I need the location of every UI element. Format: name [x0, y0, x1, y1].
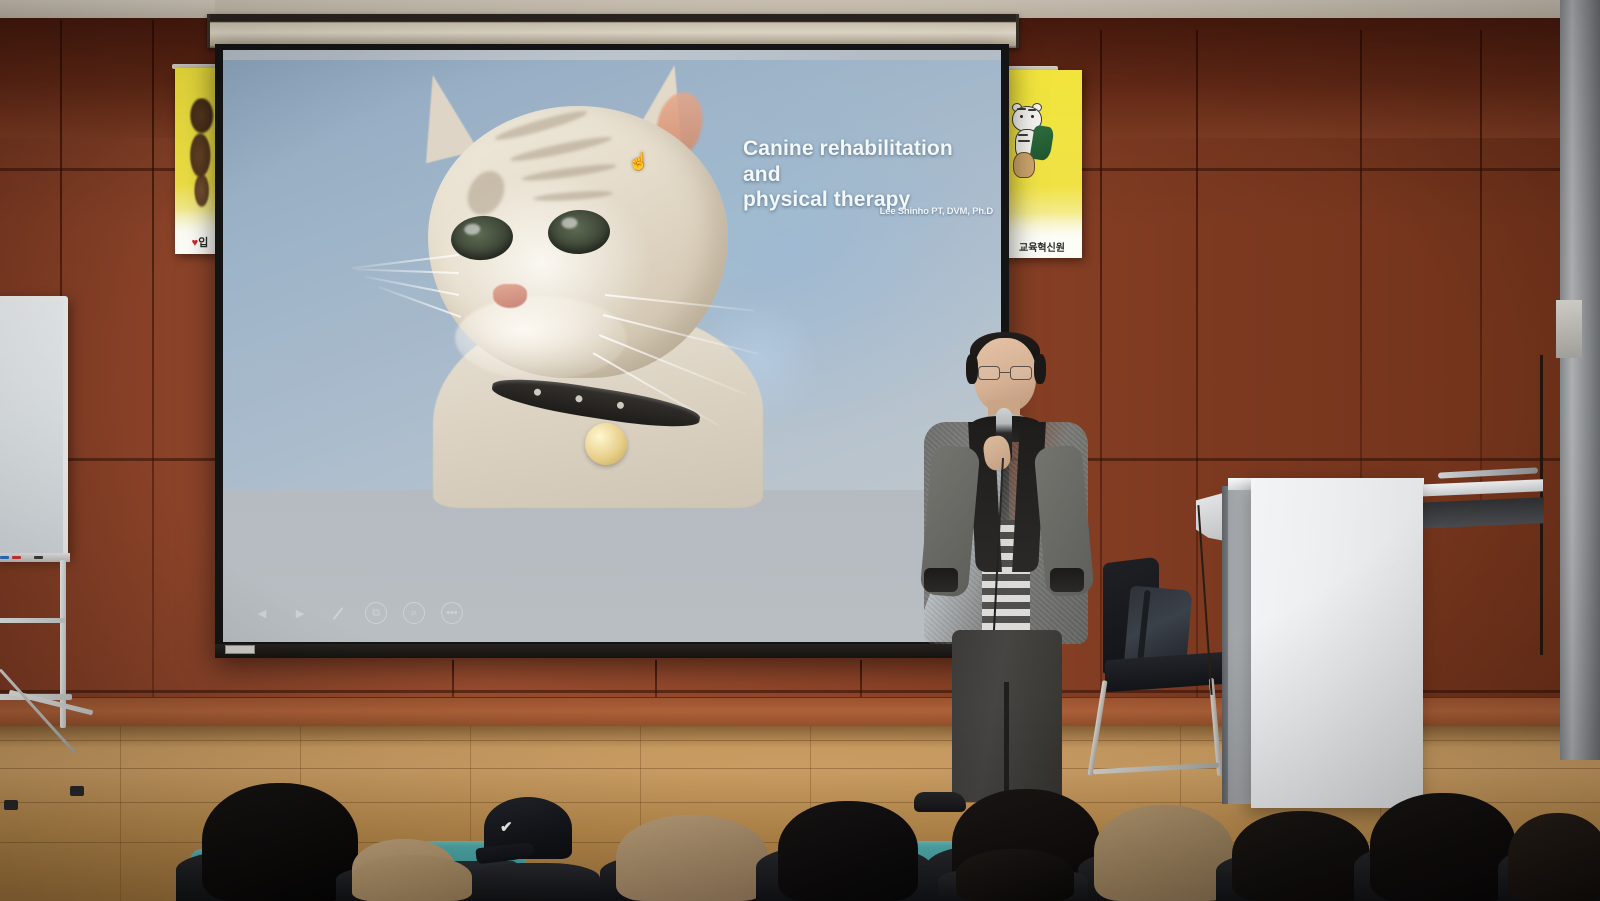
left-banner-label: 입 [198, 237, 208, 249]
all-slides-icon[interactable]: ⧉ [365, 602, 387, 624]
more-options-icon[interactable]: ••• [441, 602, 463, 624]
audience: ✔ [0, 744, 1600, 901]
dog-photo-graphic [183, 98, 219, 208]
cap-logo-icon: ✔ [500, 823, 526, 832]
wall-seam [152, 20, 154, 710]
wall-seam [1480, 30, 1482, 500]
wall-equipment-box [1556, 300, 1582, 358]
slideshow-toolbar[interactable]: ◀ ▶ ⧉ ⌕ ••• [251, 602, 463, 624]
audience-head [1508, 813, 1600, 901]
puppy-graphic [1013, 152, 1035, 178]
cat-bell [585, 423, 627, 465]
projection-screen-weight-bar [215, 644, 1009, 658]
audience-head [1232, 811, 1370, 901]
audience-head [956, 849, 1074, 901]
projection-screen: ☝ [215, 44, 1009, 656]
presentation-slide: ☝ [223, 50, 1001, 642]
audience-head [352, 855, 472, 901]
cat-nose [493, 284, 527, 308]
slide-title: Canine rehabilitation and physical thera… [743, 136, 993, 213]
pen-icon[interactable] [327, 602, 349, 624]
projection-screen-valance: L [207, 14, 1019, 48]
audience-head [1094, 805, 1234, 901]
slide-title-line1: Canine rehabilitation and [743, 136, 993, 187]
presenter-glasses [978, 366, 1032, 381]
wall-seam [1360, 30, 1362, 500]
auditorium-scene: ♥입 교육혁신원 [0, 0, 1600, 901]
right-banner-label: 교육혁신원 [1002, 239, 1082, 254]
podium-shelf-under [1418, 497, 1544, 529]
zoom-icon[interactable]: ⌕ [403, 602, 425, 624]
whiteboard-crossbar [0, 618, 66, 623]
projection-screen-brand-label [225, 645, 255, 654]
hand-cursor-icon: ☝ [628, 153, 644, 173]
next-slide-icon[interactable]: ▶ [289, 602, 311, 624]
previous-slide-icon[interactable]: ◀ [251, 602, 273, 624]
slide-author: Lee Shinho PT, DVM, Ph.D [743, 206, 993, 217]
audience-head [202, 783, 358, 901]
whiteboard [0, 296, 68, 558]
cat-illustration: ☝ [373, 58, 803, 488]
right-wall-column [1560, 0, 1600, 760]
audience-head [778, 801, 918, 901]
audience-head [616, 815, 768, 901]
right-banner: 교육혁신원 [1002, 70, 1082, 258]
tiger-mascot-graphic [1006, 102, 1050, 206]
audience-head [1370, 793, 1516, 901]
projection-screen-surface: ☝ [223, 50, 1001, 642]
